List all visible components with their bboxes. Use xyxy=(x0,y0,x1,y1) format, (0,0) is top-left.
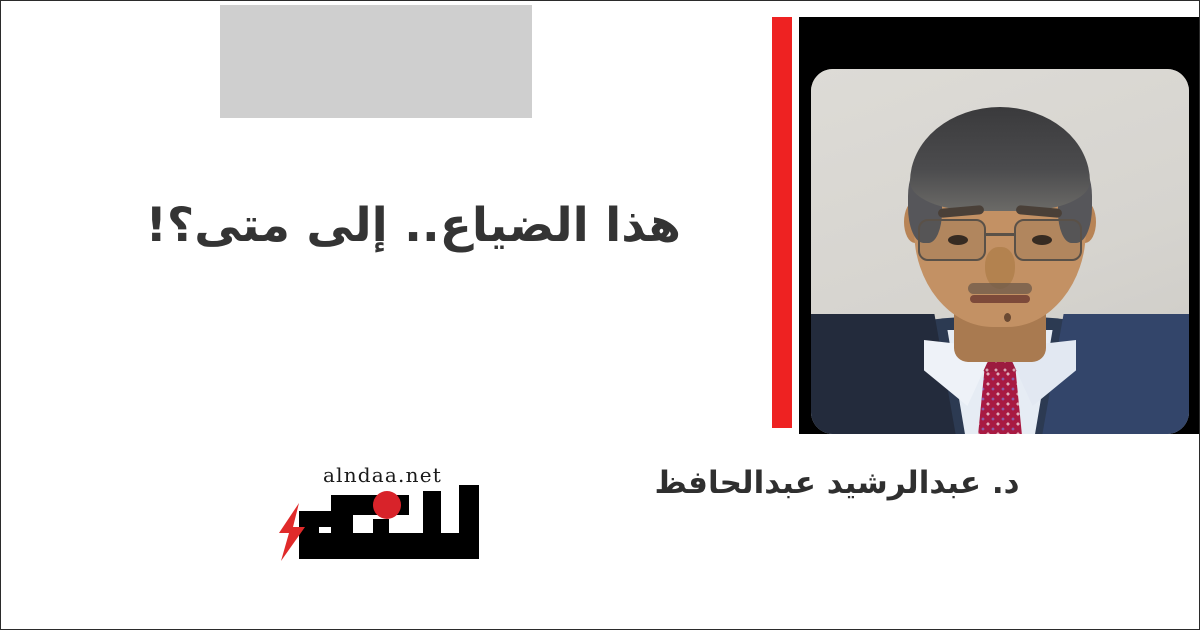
site-logo[interactable]: alndaa.net xyxy=(273,453,487,569)
author-photo-frame xyxy=(799,17,1200,434)
red-dot-icon xyxy=(373,491,401,519)
glasses-bridge xyxy=(986,233,1014,236)
glasses-lens-left xyxy=(918,219,986,261)
portrait-mustache xyxy=(968,283,1032,294)
author-name: د. عبدالرشيد عبدالحافظ xyxy=(557,465,1117,502)
lightning-bolt-icon xyxy=(275,503,309,561)
glasses-lens-right xyxy=(1014,219,1082,261)
page-title: هذا الضياع.. إلى متى؟! xyxy=(41,197,681,254)
author-portrait xyxy=(811,69,1189,434)
grey-placeholder-block xyxy=(220,5,532,118)
portrait-chin-mark xyxy=(1004,313,1011,322)
red-vertical-rule xyxy=(772,17,792,428)
article-share-card: هذا الضياع.. إلى متى؟! xyxy=(0,0,1200,630)
portrait-mouth xyxy=(970,295,1030,303)
